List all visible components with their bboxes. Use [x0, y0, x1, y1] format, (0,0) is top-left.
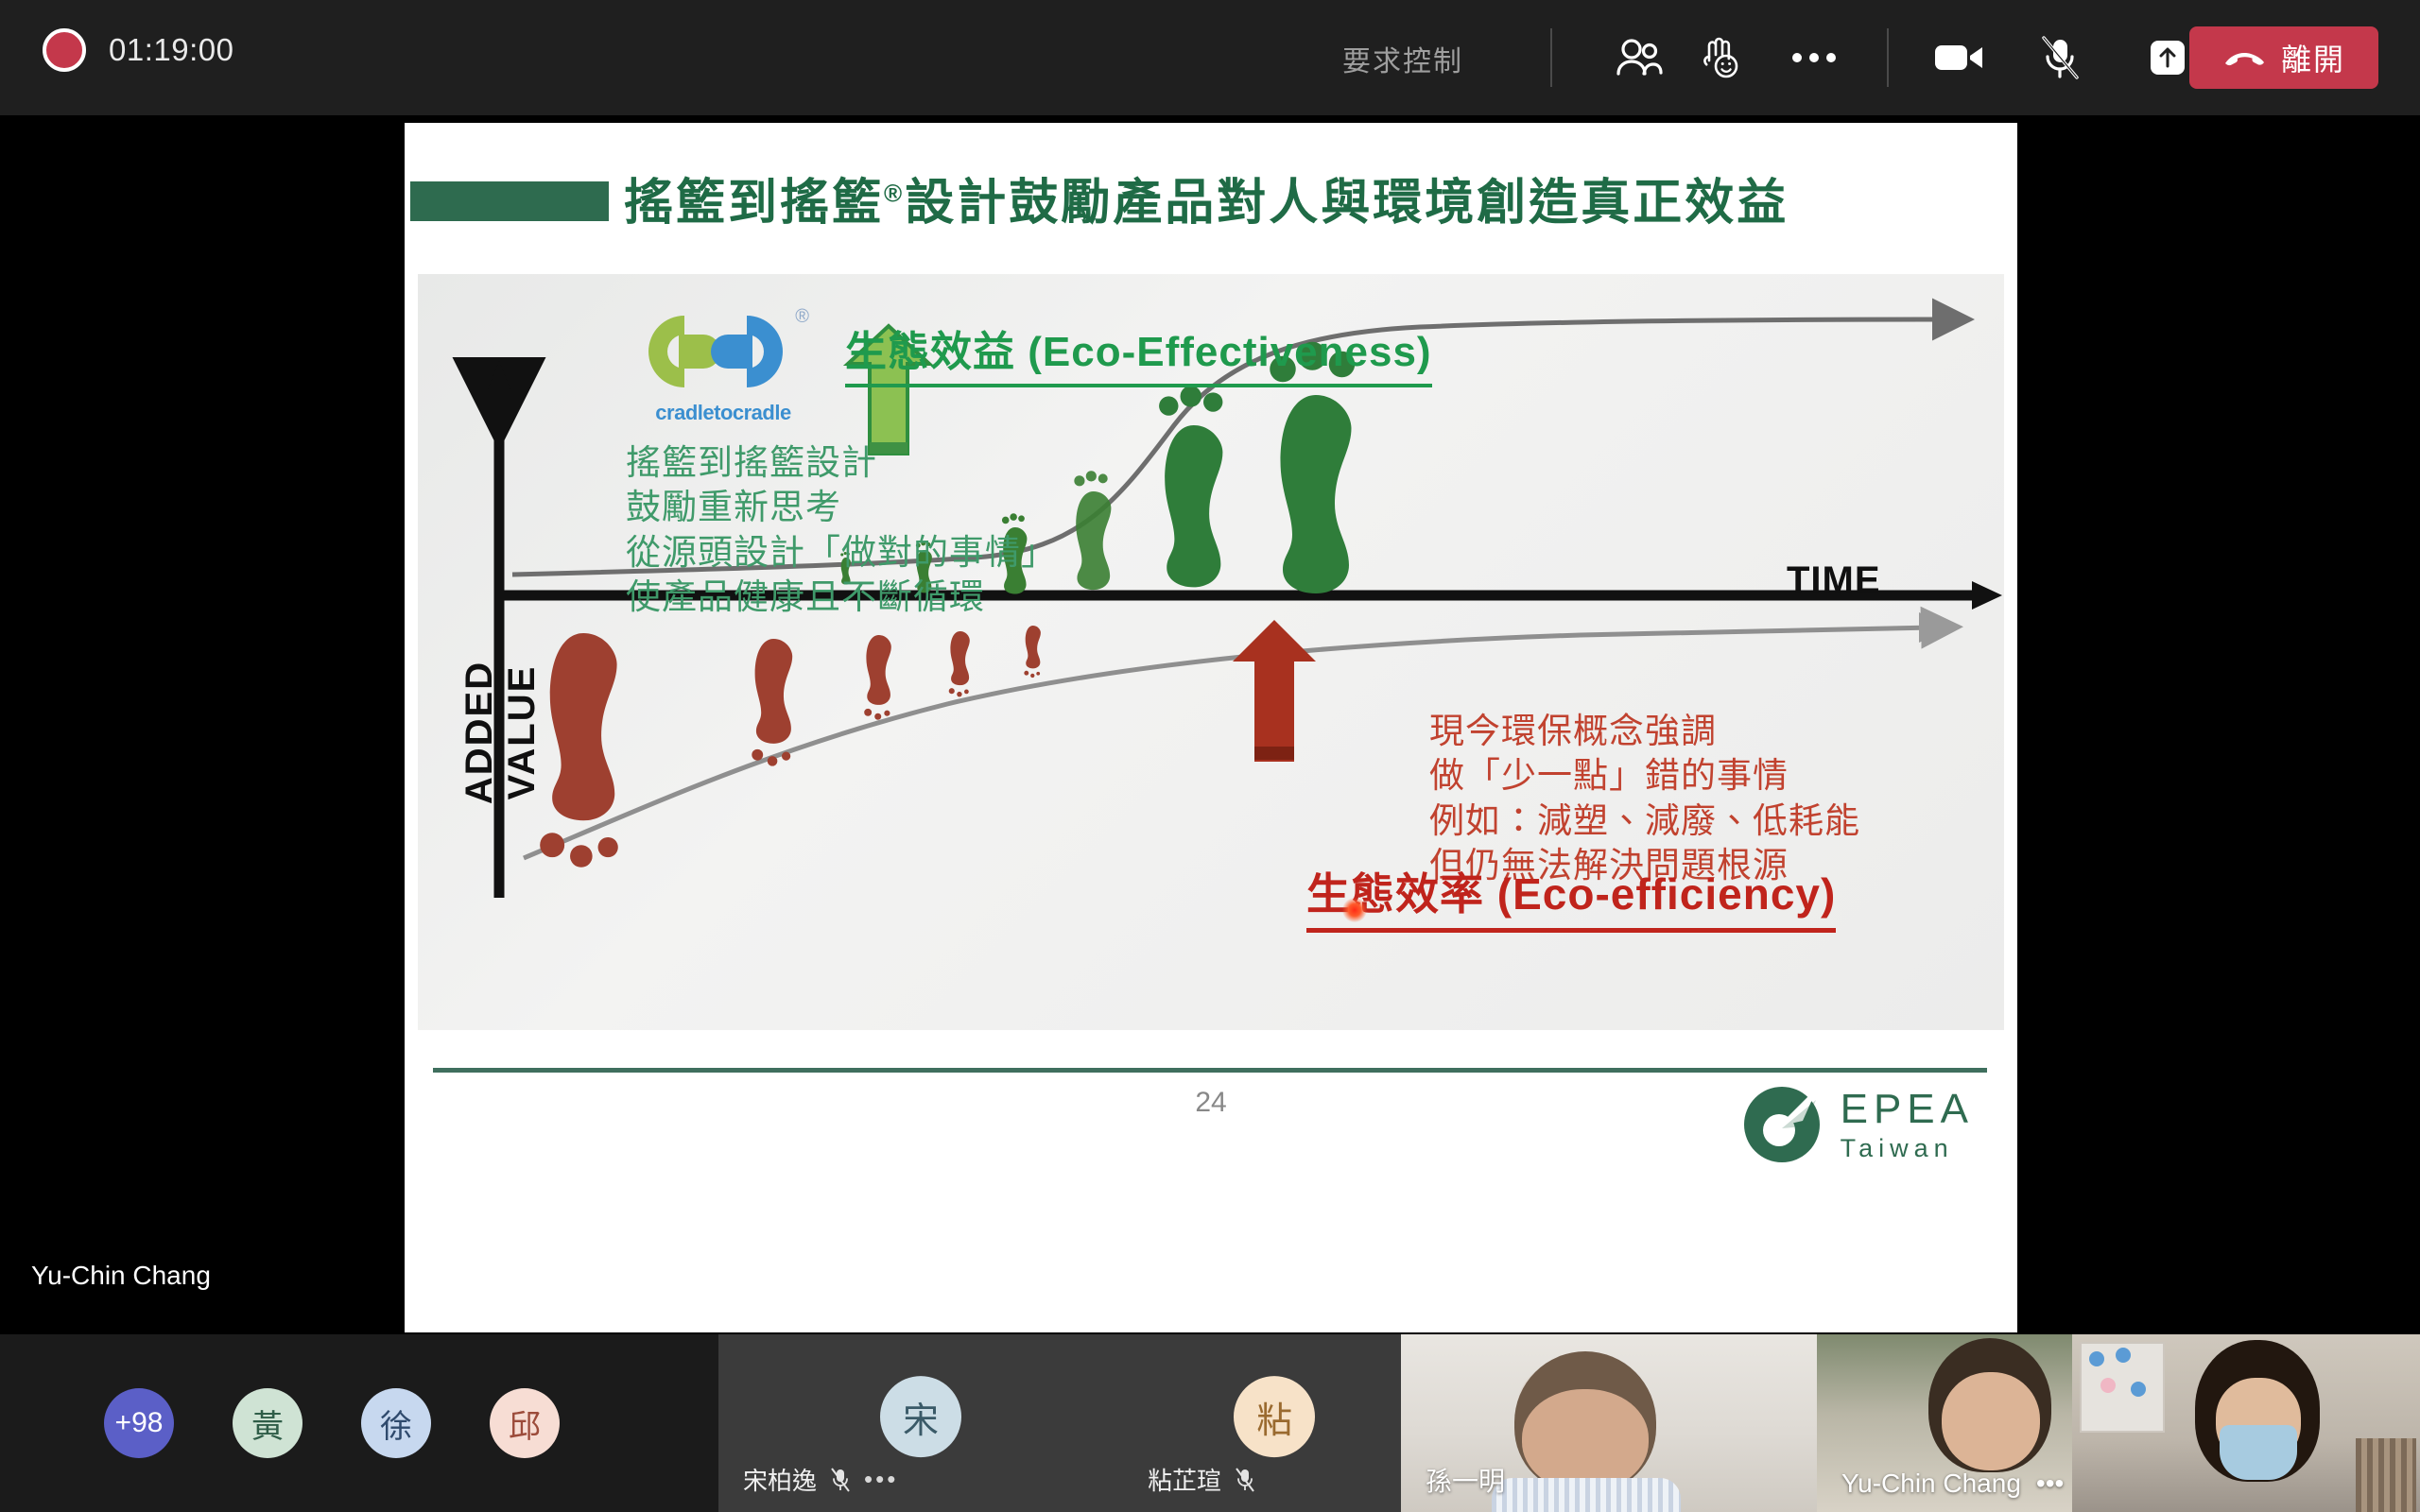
mic-muted-icon: [830, 1468, 851, 1492]
red-up-arrow: [1233, 620, 1316, 762]
video-tile-name-row: 孫一明: [1426, 1461, 1505, 1499]
video-face-shape: [1942, 1372, 2040, 1470]
participant-filmstrip: +98 黃 徐 邱 宋 宋柏逸 ••• 粘: [0, 1334, 2420, 1512]
people-icon[interactable]: [1598, 21, 1679, 94]
avatar-initial: 徐: [380, 1400, 412, 1447]
poster-dot: [2131, 1382, 2146, 1397]
participant-avatar-hsu[interactable]: 徐: [361, 1388, 431, 1458]
green-line-4: 使產品健康且不斷循環: [626, 575, 1057, 619]
epea-name: EPEA: [1841, 1089, 1974, 1130]
y-axis-label: ADDED VALUE: [458, 610, 544, 855]
hangup-icon: [2222, 46, 2266, 69]
toolbar-icon-group: [1598, 21, 1855, 94]
presenter-name-label: Yu-Chin Chang: [31, 1261, 211, 1291]
participant-avatar-huang[interactable]: 黃: [233, 1388, 302, 1458]
toolbar-divider: [1550, 28, 1552, 87]
tile-name-row: 粘芷瑄: [1148, 1462, 1255, 1497]
slide-title-rest: 設計鼓勵產品對人與環境創造真正效益: [905, 176, 1789, 231]
eco-effectiveness-text: 搖籃到搖籃設計 鼓勵重新思考 從源頭設計「做對的事情」 使產品健康且不斷循環: [626, 440, 1057, 619]
presentation-slide[interactable]: 搖籃到搖籃®設計鼓勵產品對人與環境創造真正效益: [405, 123, 2017, 1332]
logo-wordmark: cradletocradle: [633, 401, 813, 425]
avatar-initial: 宋: [903, 1391, 939, 1443]
mic-muted-icon[interactable]: [2019, 21, 2100, 94]
green-line-2: 鼓勵重新思考: [626, 485, 1057, 529]
x-axis-label: TIME: [1787, 559, 1881, 602]
tile-name-row: 宋柏逸 •••: [743, 1462, 898, 1497]
record-dot-icon: [43, 28, 86, 72]
red-line-1: 現今環保概念強調: [1429, 709, 1860, 753]
participant-avatar-chiu[interactable]: 邱: [490, 1388, 560, 1458]
red-line-3: 例如：減塑、減廢、低耗能: [1429, 799, 1860, 843]
participant-tile-song[interactable]: 宋 宋柏逸 •••: [718, 1334, 1123, 1512]
leave-call-button[interactable]: 離開: [2189, 26, 2378, 89]
bookshelf-shape: [2356, 1438, 2416, 1512]
slide-footer-rule: [433, 1068, 1987, 1073]
camera-icon[interactable]: [1919, 21, 2000, 94]
face-mask-shape: [2220, 1425, 2297, 1480]
poster-dot: [2089, 1351, 2104, 1366]
red-line-2: 做「少一點」錯的事情: [1429, 753, 1860, 798]
registered-mark: ®: [884, 180, 905, 208]
avatar-initial: 邱: [509, 1400, 541, 1447]
video-tile-sun[interactable]: 孫一明: [1401, 1334, 1817, 1512]
video-display-name: 孫一明: [1426, 1461, 1505, 1499]
video-display-name: Yu-Chin Chang: [1841, 1469, 2021, 1499]
tile-display-name: 宋柏逸: [743, 1462, 817, 1497]
request-control-button[interactable]: 要求控制: [1342, 38, 1463, 79]
red-footprints: [540, 626, 1041, 868]
video-shirt-shape: [1492, 1478, 1681, 1512]
meeting-top-bar: 01:19:00 要求控制: [0, 0, 2420, 115]
video-tile-yuchin[interactable]: Yu-Chin Chang •••: [1817, 1334, 2072, 1512]
avatar-initial: 黃: [251, 1400, 284, 1447]
slide-title: 搖籃到搖籃®設計鼓勵產品對人與環境創造真正效益: [624, 163, 1995, 233]
green-line-1: 搖籃到搖籃設計: [626, 440, 1057, 485]
recording-indicator: 01:19:00: [43, 28, 233, 72]
video-more-options-icon[interactable]: •••: [2036, 1469, 2064, 1499]
tile-display-name: 粘芷瑄: [1148, 1462, 1221, 1497]
eco-efficiency-title: 生態效率 (Eco-efficiency): [1306, 860, 1836, 933]
tile-avatar: 粘: [1234, 1376, 1315, 1457]
raise-hand-icon[interactable]: [1679, 21, 1760, 94]
green-line-3: 從源頭設計「做對的事情」: [626, 530, 1057, 575]
video-tile-name-row: Yu-Chin Chang •••: [1841, 1469, 2064, 1499]
slide-title-main: 搖籃到搖籃: [624, 176, 884, 231]
tile-more-options-icon[interactable]: •••: [864, 1465, 898, 1494]
recording-timer: 01:19:00: [109, 32, 233, 68]
tile-avatar: 宋: [880, 1376, 961, 1457]
title-accent-bar: [410, 181, 609, 221]
poster-dot: [2116, 1348, 2131, 1363]
participant-tile-nian[interactable]: 粘 粘芷瑄: [1123, 1334, 1426, 1512]
video-face-shape: [1522, 1389, 1649, 1491]
epea-region: Taiwan: [1841, 1136, 1974, 1161]
laser-pointer-dot: [1342, 898, 1367, 922]
leave-label: 離開: [2281, 36, 2345, 79]
overflow-count: +98: [115, 1407, 164, 1439]
eco-diagram: ® cradletocradle 生態效益 (Eco-Effectiveness…: [418, 274, 2004, 1030]
poster-dot: [2100, 1378, 2116, 1393]
media-controls-group: [1919, 21, 2208, 94]
cradle-to-cradle-logo: ® cradletocradle: [633, 304, 813, 427]
more-options-icon[interactable]: [1773, 21, 1855, 94]
toolbar-divider-2: [1887, 28, 1889, 87]
eco-effectiveness-title: 生態效益 (Eco-Effectiveness): [845, 318, 1432, 387]
mic-muted-icon: [1235, 1468, 1255, 1492]
overflow-participants-avatar[interactable]: +98: [104, 1388, 174, 1458]
shared-content-stage: Yu-Chin Chang 搖籃到搖籃®設計鼓勵產品對人與環境創造真正效益: [0, 115, 2420, 1334]
avatar-initial: 粘: [1256, 1391, 1292, 1443]
video-tile-classroom[interactable]: [2072, 1334, 2420, 1512]
epea-logo: EPEA Taiwan: [1737, 1079, 1974, 1170]
logo-registered-mark: ®: [795, 306, 809, 328]
avatar-row: +98 黃 徐 邱: [104, 1334, 560, 1512]
epea-mark-icon: [1737, 1079, 1827, 1170]
